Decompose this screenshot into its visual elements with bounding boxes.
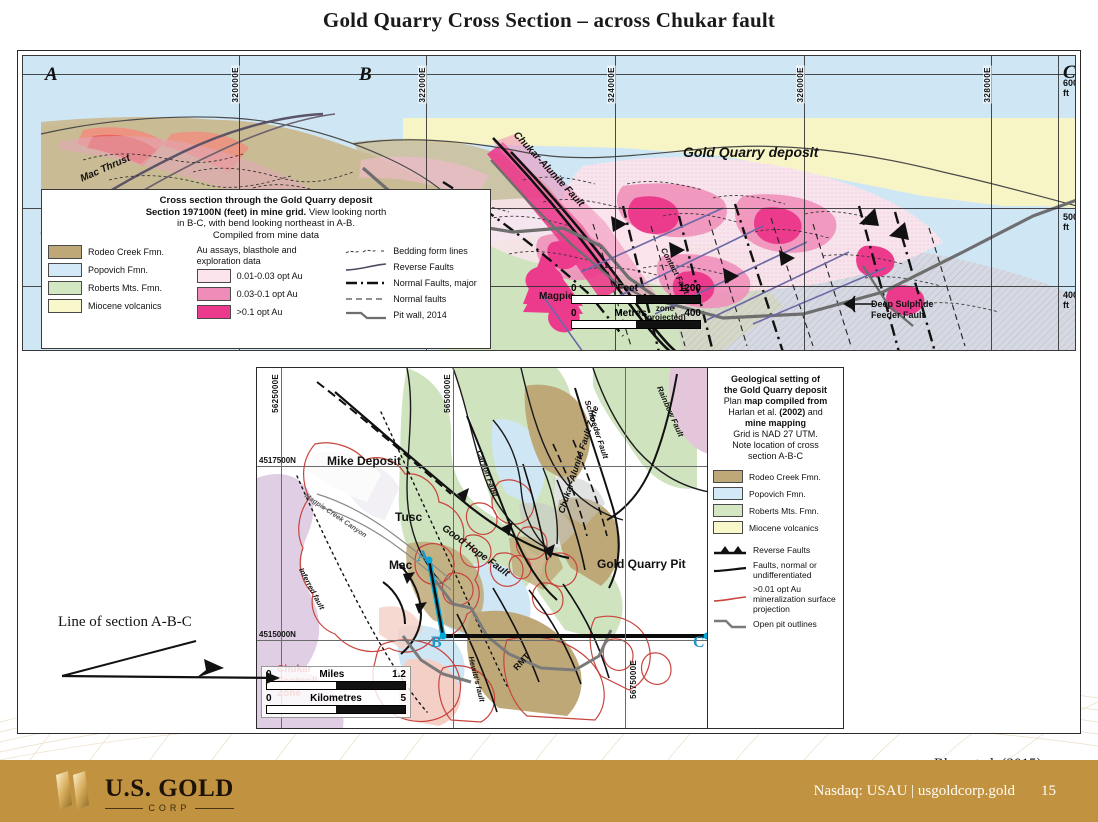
page-title: Gold Quarry Cross Section – across Chuka… [0, 8, 1098, 33]
ticker-text: Nasdaq: USAU | usgoldcorp.gold [814, 783, 1015, 800]
pm-legend-title-1: Geological setting of [731, 374, 820, 384]
legend-label: Rodeo Creek Fmn. [88, 247, 164, 257]
plan-map-place-mac: Mac [389, 558, 412, 572]
cross-section-figure: 320000E 322000E 324000E 326000E 328000E … [22, 55, 1076, 351]
scale-km-label: Kilometres [272, 693, 401, 704]
legend-item: Popovich Fmn. [713, 487, 838, 500]
legend-label: 0.01-0.03 opt Au [237, 271, 303, 281]
legend-label: Faults, normal or undifferentiated [753, 560, 838, 580]
pm-legend-title-4a: Harlan et al. [728, 407, 779, 417]
pm-legend-title-5: mine mapping [745, 418, 806, 428]
deep-sulphide-leader-line [835, 292, 879, 318]
cross-section-node-b: B [359, 64, 372, 86]
open-pit-outline-icon [713, 618, 747, 630]
plan-map-place-tusc: Tusc [395, 510, 422, 524]
legend-item: Open pit outlines [713, 618, 838, 630]
plan-map-grid-line [257, 640, 709, 641]
legend-item: Miocene volcanics [48, 299, 193, 313]
pm-legend-title-2: the Gold Quarry deposit [724, 385, 827, 395]
footer-bar: U.S. GOLD CORP Nasdaq: USAU | usgoldcorp… [0, 760, 1098, 822]
plan-map-node-a: A [417, 548, 429, 566]
swatch-rodeo-creek [713, 470, 743, 483]
swatch-roberts-mts [48, 281, 82, 295]
cross-section-easting-label: 328000E [983, 66, 992, 104]
plan-map-node-c: C [693, 634, 705, 652]
plan-map-place-mike-deposit: Mike Deposit [327, 454, 401, 469]
cross-section-feature-deep-sulphide-feeder-fault: Deep Sulphide Feeder Fault [871, 299, 965, 320]
legend-label: Pit wall, 2014 [393, 310, 447, 320]
normal-fault-plain-icon [713, 564, 747, 576]
legend-item: Roberts Mts. Fmn. [48, 281, 193, 295]
au-mineralization-outline-icon [713, 593, 747, 605]
legend-label: Reverse Faults [753, 545, 810, 555]
legend-label: Miocene volcanics [749, 523, 818, 533]
swatch-popovich [713, 487, 743, 500]
cross-section-node-c: C [1063, 62, 1076, 84]
scale-feet-label: Feet [577, 283, 679, 294]
legend-label: Miocene volcanics [88, 301, 162, 311]
swatch-popovich [48, 263, 82, 277]
swatch-rodeo-creek [48, 245, 82, 259]
brand-logo: U.S. GOLD CORP [52, 769, 234, 813]
cross-section-legend: Cross section through the Gold Quarry de… [41, 189, 491, 349]
legend-item: >0.01 opt Au mineralization surface proj… [713, 584, 838, 614]
pm-legend-sub-2: Note location of cross [713, 440, 838, 451]
plan-map-easting-label: 5675000E [629, 660, 638, 699]
pm-legend-sub-1: Grid is NAD 27 UTM. [713, 429, 838, 440]
xs-legend-title-4: Compiled from mine data [213, 230, 319, 241]
plan-map-northing-label: 4517500N [259, 456, 296, 465]
scale-miles-label: Miles [272, 669, 393, 680]
plan-map-node-b: B [431, 634, 442, 652]
xs-legend-units-column: Rodeo Creek Fmn. Popovich Fmn. Roberts M… [48, 245, 193, 325]
annotation-arrow [48, 616, 288, 686]
plan-map-figure: 5625000E 5650000E 5675000E 4517500N 4515… [256, 367, 844, 729]
legend-label: Bedding form lines [393, 246, 468, 256]
pm-legend-title-4b: (2002) [779, 407, 805, 417]
cross-section-easting-label: 324000E [607, 66, 616, 104]
xs-legend-title-2-bold: Section 197100N (feet) in mine grid. [146, 207, 307, 218]
xs-legend-title-3: in B-C, with bend looking northeast in A… [177, 218, 355, 229]
legend-label: Popovich Fmn. [749, 489, 806, 499]
pm-legend-title-3b: map compiled from [744, 396, 827, 406]
legend-label: >0.1 opt Au [237, 307, 283, 317]
pm-legend-sub-3: section A-B-C [713, 451, 838, 462]
legend-item: Popovich Fmn. [48, 263, 193, 277]
scale-km-max: 5 [400, 693, 406, 704]
cross-section-easting-label: 322000E [418, 66, 427, 104]
legend-item: Pit wall, 2014 [345, 309, 484, 321]
plan-map-canvas: 5625000E 5650000E 5675000E 4517500N 4515… [257, 368, 709, 728]
xs-legend-title-2-rest: View looking north [306, 207, 386, 218]
legend-item: Bedding form lines [345, 245, 484, 257]
pit-wall-line-icon [345, 309, 387, 321]
scale-miles-max: 1.2 [392, 669, 406, 680]
pm-legend-title-3a: Plan [724, 396, 745, 406]
cross-section-node-a: A [45, 64, 58, 86]
plan-map-easting-label: 5625000E [271, 374, 280, 413]
legend-item: Rodeo Creek Fmn. [48, 245, 193, 259]
brand-rule-right [195, 808, 233, 809]
figure-frame: 320000E 322000E 324000E 326000E 328000E … [17, 50, 1081, 734]
legend-item: Faults, normal or undifferentiated [713, 560, 838, 580]
legend-item: Reverse Faults [345, 261, 484, 273]
bedding-form-line-icon [345, 245, 387, 257]
legend-label: Popovich Fmn. [88, 265, 148, 275]
cross-section-elevation-label: 4000 ft [1063, 290, 1076, 310]
legend-label: >0.01 opt Au mineralization surface proj… [753, 584, 838, 614]
cross-section-grid-line [23, 74, 1075, 75]
page-number: 15 [1041, 783, 1056, 800]
legend-item: Rodeo Creek Fmn. [713, 470, 838, 483]
legend-label: Reverse Faults [393, 262, 454, 272]
cross-section-grid-line [1058, 56, 1059, 350]
pm-legend-title-4c: and [805, 407, 823, 417]
plan-map-easting-label: 5650000E [443, 374, 452, 413]
swatch-au-003-01 [197, 287, 231, 301]
legend-item: Normal Faults, major [345, 277, 484, 289]
legend-item: >0.1 opt Au [197, 305, 342, 319]
legend-item: Miocene volcanics [713, 521, 838, 534]
legend-label: Roberts Mts. Fmn. [749, 506, 819, 516]
xs-legend-assay-column: Au assays, blasthole and exploration dat… [197, 245, 342, 325]
brand-sub-text: CORP [148, 803, 190, 813]
plan-map-grid-line [453, 368, 454, 728]
scale-metres-max: 400 [684, 308, 701, 319]
cross-section-scale-metres: 0 Metres 400 [571, 308, 701, 329]
reverse-fault-teeth-icon [713, 544, 747, 556]
normal-fault-line-icon [345, 293, 387, 305]
assay-header: Au assays, blasthole and exploration dat… [197, 245, 342, 266]
scale-metres-label: Metres [577, 308, 685, 319]
legend-label: Rodeo Creek Fmn. [749, 472, 821, 482]
legend-item: Roberts Mts. Fmn. [713, 504, 838, 517]
brand-name: U.S. GOLD [105, 776, 234, 802]
swatch-au-gt-01 [197, 305, 231, 319]
plan-map-place-gold-quarry-pit: Gold Quarry Pit [597, 556, 663, 572]
swatch-au-001-003 [197, 269, 231, 283]
normal-fault-major-line-icon [345, 277, 387, 289]
swatch-miocene-volcanics [48, 299, 82, 313]
cross-section-easting-label: 320000E [231, 66, 240, 104]
legend-item: 0.03-0.1 opt Au [197, 287, 342, 301]
plan-map-grid-line [625, 368, 626, 728]
plan-map-legend: Geological setting of the Gold Quarry de… [707, 368, 843, 728]
cross-section-elevation-label: 5000 ft [1063, 212, 1076, 232]
scale-feet-max: 1200 [679, 283, 701, 294]
legend-label: Normal Faults, major [393, 278, 477, 288]
brand-rule-left [105, 808, 143, 809]
swatch-miocene-volcanics [713, 521, 743, 534]
xs-legend-lines-column: Bedding form lines Reverse Faults Normal… [345, 245, 484, 325]
cross-section-feature-magpie: Magpie [539, 291, 573, 302]
cross-section-deposit-label: Gold Quarry deposit [683, 144, 818, 160]
legend-label: Normal faults [393, 294, 446, 304]
legend-item: Normal faults [345, 293, 484, 305]
legend-label: 0.03-0.1 opt Au [237, 289, 298, 299]
xs-legend-title-1: Cross section through the Gold Quarry de… [160, 195, 373, 206]
legend-item: Reverse Faults [713, 544, 838, 556]
swatch-roberts-mts [713, 504, 743, 517]
legend-label: Open pit outlines [753, 619, 817, 629]
us-gold-mark-icon [52, 769, 96, 813]
reverse-fault-line-icon [345, 261, 387, 273]
cross-section-easting-label: 326000E [796, 66, 805, 104]
legend-label: Roberts Mts. Fmn. [88, 283, 162, 293]
legend-item: 0.01-0.03 opt Au [197, 269, 342, 283]
cross-section-scale-feet: 0 Feet 1200 [571, 283, 701, 304]
